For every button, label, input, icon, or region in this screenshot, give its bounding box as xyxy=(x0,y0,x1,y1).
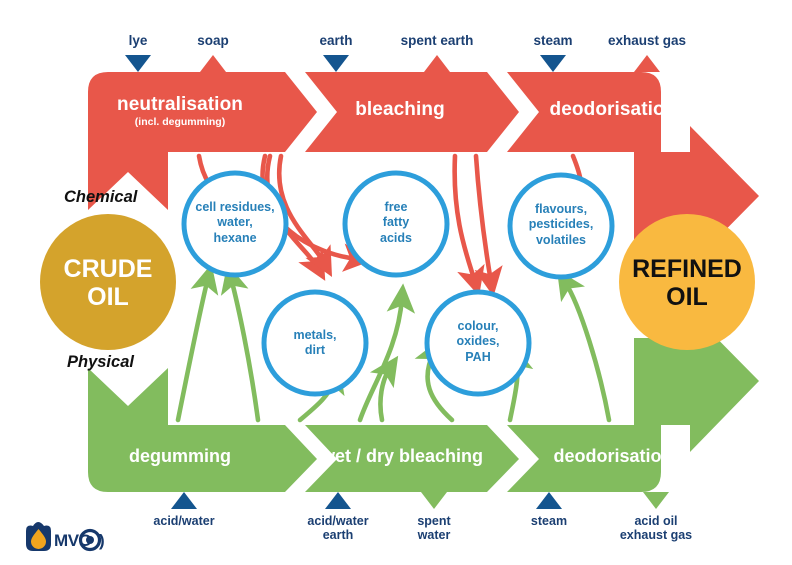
stream-label-steam-bottom: steam xyxy=(499,514,599,528)
flavours-line1: flavours, xyxy=(501,202,621,217)
cell-residues-line2: water, xyxy=(175,215,295,230)
spent-water-line2: water xyxy=(384,528,484,542)
cell-residues-line3: hexane xyxy=(175,231,295,246)
colour-line3: PAH xyxy=(418,350,538,365)
marker-acid-water-earth xyxy=(325,492,351,509)
stream-label-acid-oil-exhaust: acid oil exhaust gas xyxy=(606,514,706,542)
crude-oil-line2: OIL xyxy=(38,283,178,311)
physical-step-2[interactable]: wet / dry bleaching xyxy=(302,447,502,467)
refined-oil-line2: OIL xyxy=(617,283,757,311)
flavours-line2: pesticides, xyxy=(501,217,621,232)
spent-water-line1: spent xyxy=(384,514,484,528)
acid-water-earth-line1: acid/water xyxy=(288,514,388,528)
physical-step-1-label: degumming xyxy=(70,447,290,467)
physical-step-1[interactable]: degumming xyxy=(70,447,290,467)
metals-line2: dirt xyxy=(255,343,375,358)
chemical-step-2-label: bleaching xyxy=(300,100,500,121)
physical-step-3-label: deodorisation xyxy=(513,447,713,467)
stream-label-steam-top: steam xyxy=(503,33,603,48)
stream-label-spent-earth: spent earth xyxy=(387,33,487,48)
chemical-step-2[interactable]: bleaching xyxy=(300,100,500,121)
physical-step-3[interactable]: deodorisation xyxy=(513,447,713,467)
marker-earth xyxy=(323,55,349,72)
chemical-step-1-sublabel: (incl. degumming) xyxy=(70,117,290,129)
colour-line2: oxides, xyxy=(418,334,538,349)
stream-label-acid-water-1: acid/water xyxy=(134,514,234,528)
marker-spent-water xyxy=(421,492,447,509)
logo-closing-paren: ) xyxy=(99,531,105,551)
stream-label-acid-water-earth: acid/water earth xyxy=(288,514,388,542)
marker-acid-oil-exhaust xyxy=(643,492,669,509)
chemical-step-3[interactable]: deodorisation xyxy=(513,100,713,121)
acid-water-earth-line2: earth xyxy=(288,528,388,542)
cell-residues-line1: cell residues, xyxy=(175,200,295,215)
colour-line1: colour, xyxy=(418,319,538,334)
refined-oil-line1: REFINED xyxy=(617,255,757,283)
refined-oil-label: REFINED OIL xyxy=(617,255,757,311)
stream-label-earth: earth xyxy=(286,33,386,48)
bubble-label-colour-oxides: colour, oxides, PAH xyxy=(418,319,538,365)
marker-acid-water-1 xyxy=(171,492,197,509)
marker-steam-top xyxy=(540,55,566,72)
chemical-step-3-label: deodorisation xyxy=(513,100,713,121)
acid-water-1-line1: acid/water xyxy=(134,514,234,528)
metals-line1: metals, xyxy=(255,328,375,343)
route-label-physical: Physical xyxy=(67,353,134,372)
flavours-line3: volatiles xyxy=(501,233,621,248)
physical-step-2-label: wet / dry bleaching xyxy=(302,447,502,467)
crude-oil-label: CRUDE OIL xyxy=(38,255,178,311)
stream-label-spent-water: spent water xyxy=(384,514,484,542)
marker-spent-earth xyxy=(424,55,450,72)
stream-label-soap: soap xyxy=(163,33,263,48)
bubble-label-cell-residues: cell residues, water, hexane xyxy=(175,200,295,246)
route-label-chemical: Chemical xyxy=(64,188,137,207)
bubble-label-flavours: flavours, pesticides, volatiles xyxy=(501,202,621,248)
marker-steam-bottom xyxy=(536,492,562,509)
diagram-canvas: neutralisation (incl. degumming) bleachi… xyxy=(0,0,792,565)
chemical-step-1[interactable]: neutralisation (incl. degumming) xyxy=(70,95,290,128)
acid-oil-line2: exhaust gas xyxy=(606,528,706,542)
logo-wordmark: MVO xyxy=(54,531,92,551)
bubble-label-metals-dirt: metals, dirt xyxy=(255,328,375,359)
ffa-line2: fatty xyxy=(336,215,456,230)
chemical-step-1-label: neutralisation xyxy=(70,95,290,116)
marker-soap xyxy=(200,55,226,72)
marker-exhaust-gas xyxy=(634,55,660,72)
ffa-line3: acids xyxy=(336,231,456,246)
stream-label-exhaust-gas: exhaust gas xyxy=(597,33,697,48)
ffa-line1: free xyxy=(336,200,456,215)
physical-stream-markers xyxy=(171,492,669,509)
acid-oil-line1: acid oil xyxy=(606,514,706,528)
logo-wordmark-text: MVO xyxy=(54,531,92,550)
bubble-label-free-fatty-acids: free fatty acids xyxy=(336,200,456,246)
marker-lye xyxy=(125,55,151,72)
chemical-stream-markers xyxy=(125,55,660,72)
crude-oil-line1: CRUDE xyxy=(38,255,178,283)
physical-removal-arrows xyxy=(178,278,609,420)
